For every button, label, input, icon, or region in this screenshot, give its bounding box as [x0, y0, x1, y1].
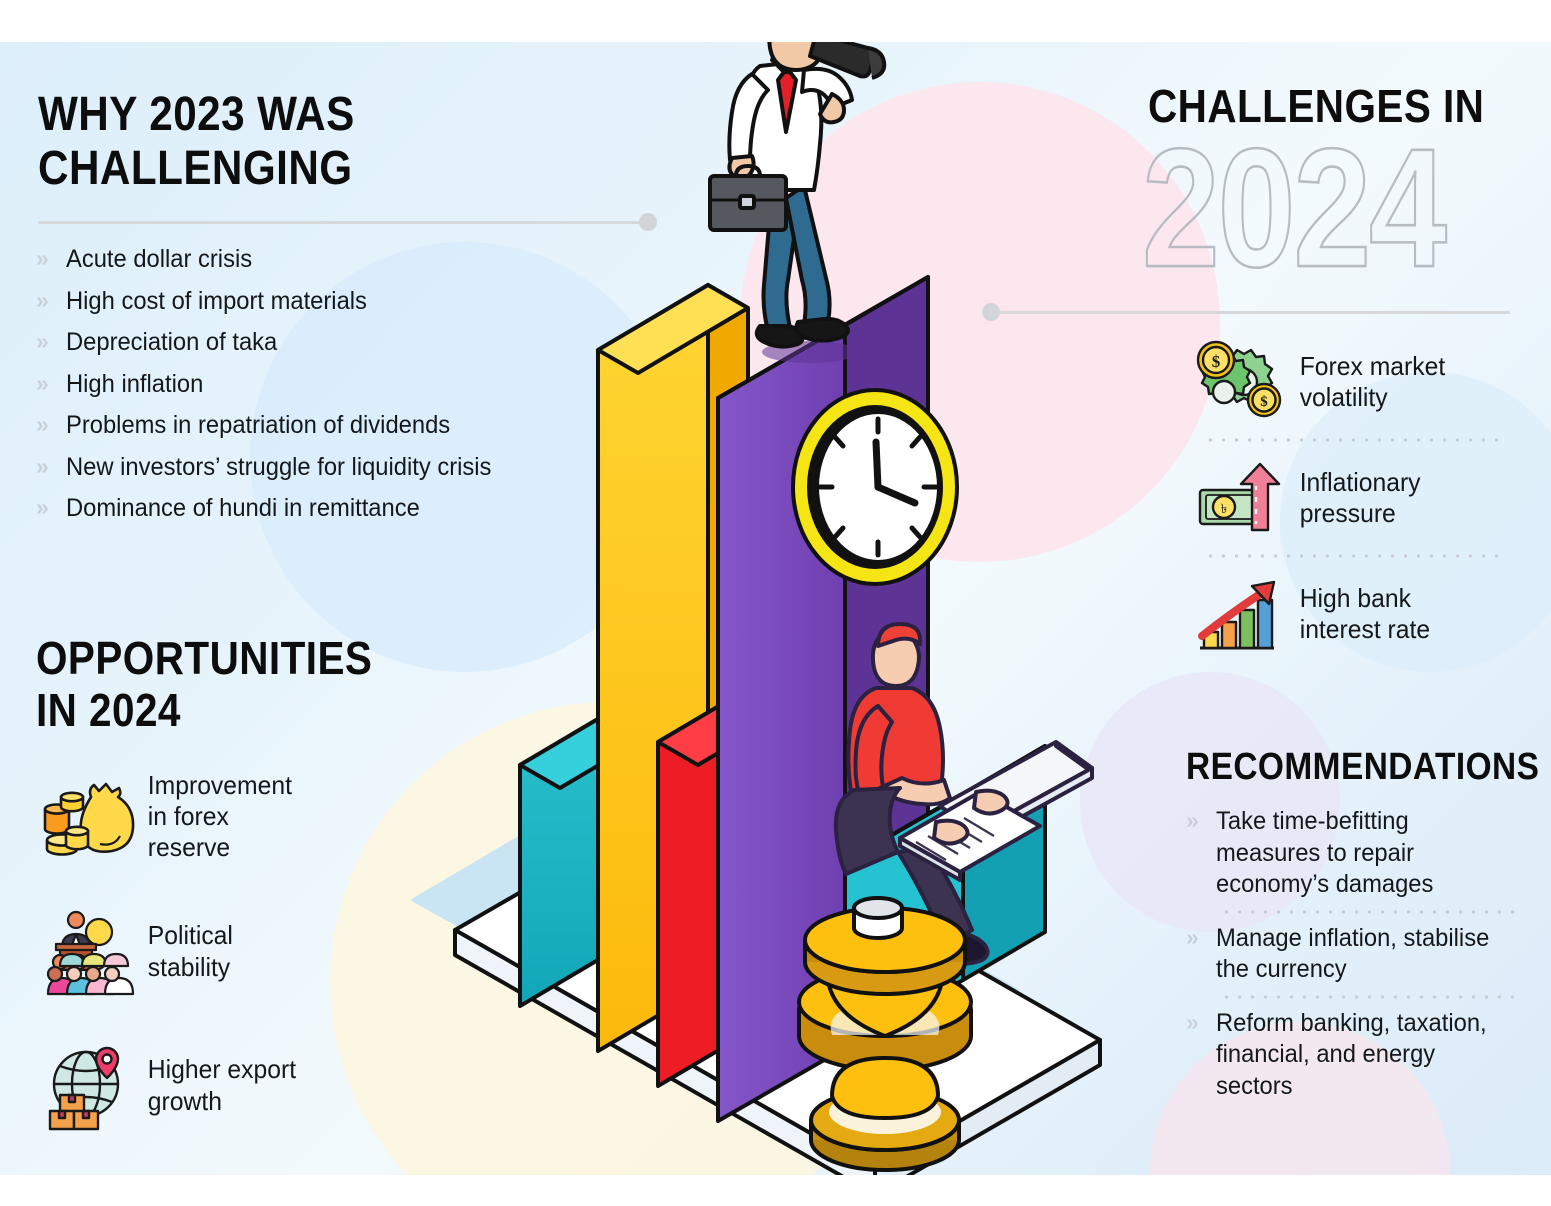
double-chevron-icon: » [36, 493, 66, 519]
gears-dollar-coins-icon: $ $ [1190, 338, 1294, 426]
label-line: Political [148, 920, 233, 951]
list-item: ৳ Inflationary pressure [1190, 454, 1535, 542]
top-margin-band [0, 0, 1551, 42]
list-item-label: High cost of import materials [66, 286, 367, 318]
dotted-separator [1204, 438, 1504, 442]
list-item: Improvement in forex reserve [36, 770, 356, 864]
list-item-label: Forex market volatility [1294, 351, 1445, 413]
label-line: interest rate [1300, 614, 1430, 645]
label-line: High bank [1300, 583, 1430, 614]
list-item-label: High bank interest rate [1294, 583, 1430, 645]
double-chevron-icon: » [1186, 1008, 1216, 1034]
double-chevron-icon: » [36, 369, 66, 395]
double-chevron-icon: » [36, 244, 66, 270]
opportunities-list: Improvement in forex reserve [36, 770, 356, 1174]
label-line: stability [148, 952, 233, 983]
recommendations-title: RECOMMENDATIONS [1186, 748, 1538, 788]
list-item: » Reform banking, taxation, financial, a… [1186, 1008, 1526, 1103]
label-line: reserve [148, 832, 292, 863]
list-item-label: Dominance of hundi in remittance [66, 493, 420, 525]
double-chevron-icon: » [36, 410, 66, 436]
label-line: Improvement [148, 770, 292, 801]
divider-right [998, 311, 1510, 314]
isometric-bar-chart-illustration [380, 0, 1160, 1190]
challenges-year-outline: 2024 [1142, 124, 1445, 293]
challenges-2024-list: $ $ Forex market volatility [1190, 338, 1535, 658]
list-item-label: Manage inflation, stabilise the currency [1216, 923, 1511, 986]
label-line: pressure [1300, 498, 1421, 529]
double-chevron-icon: » [36, 327, 66, 353]
dotted-separator [1220, 995, 1516, 999]
bar-chart-arrow-icon [1190, 570, 1294, 658]
double-chevron-icon: » [1186, 806, 1216, 832]
list-item: Political stability [36, 906, 356, 998]
list-item: » Manage inflation, stabilise the curren… [1186, 923, 1526, 986]
divider-dot-right [982, 303, 1000, 321]
banknote-up-arrow-icon: ৳ [1190, 454, 1294, 542]
dotted-separator [1204, 554, 1504, 558]
list-item-label: Acute dollar crisis [66, 244, 252, 276]
list-item-label: Higher export growth [144, 1054, 296, 1116]
list-item-label: Take time-befitting measures to repair e… [1216, 806, 1511, 901]
infographic-canvas: WHY 2023 WAS CHALLENGING » Acute dollar … [0, 0, 1551, 1206]
svg-text:৳: ৳ [1221, 501, 1227, 516]
double-chevron-icon: » [1186, 923, 1216, 949]
label-line: Inflationary [1300, 467, 1421, 498]
label-line: Higher export [148, 1054, 296, 1085]
list-item-label: Depreciation of taka [66, 327, 277, 359]
bottom-margin-band [0, 1175, 1551, 1206]
label-line: Forex market [1300, 351, 1445, 382]
list-item-label: High inflation [66, 369, 203, 401]
money-bag-coins-icon [36, 771, 144, 863]
label-line: growth [148, 1086, 296, 1117]
svg-text:$: $ [1260, 394, 1268, 410]
podium-audience-icon [36, 906, 144, 998]
list-item-label: Improvement in forex reserve [144, 770, 292, 864]
svg-text:$: $ [1212, 352, 1221, 371]
double-chevron-icon: » [36, 452, 66, 478]
list-item: $ $ Forex market volatility [1190, 338, 1535, 426]
list-item: High bank interest rate [1190, 570, 1535, 658]
list-item: » Take time-befitting measures to repair… [1186, 806, 1526, 901]
double-chevron-icon: » [36, 286, 66, 312]
list-item: Higher export growth [36, 1040, 356, 1132]
recommendations-list: » Take time-befitting measures to repair… [1186, 806, 1526, 1102]
list-item-label: Reform banking, taxation, financial, and… [1216, 1008, 1511, 1103]
wall-clock-icon [793, 390, 957, 584]
globe-boxes-icon [36, 1040, 144, 1132]
label-line: in forex [148, 801, 292, 832]
dotted-separator [1220, 910, 1516, 914]
list-item-label: Inflationary pressure [1294, 467, 1421, 529]
list-item-label: Political stability [144, 920, 233, 982]
label-line: volatility [1300, 382, 1445, 413]
